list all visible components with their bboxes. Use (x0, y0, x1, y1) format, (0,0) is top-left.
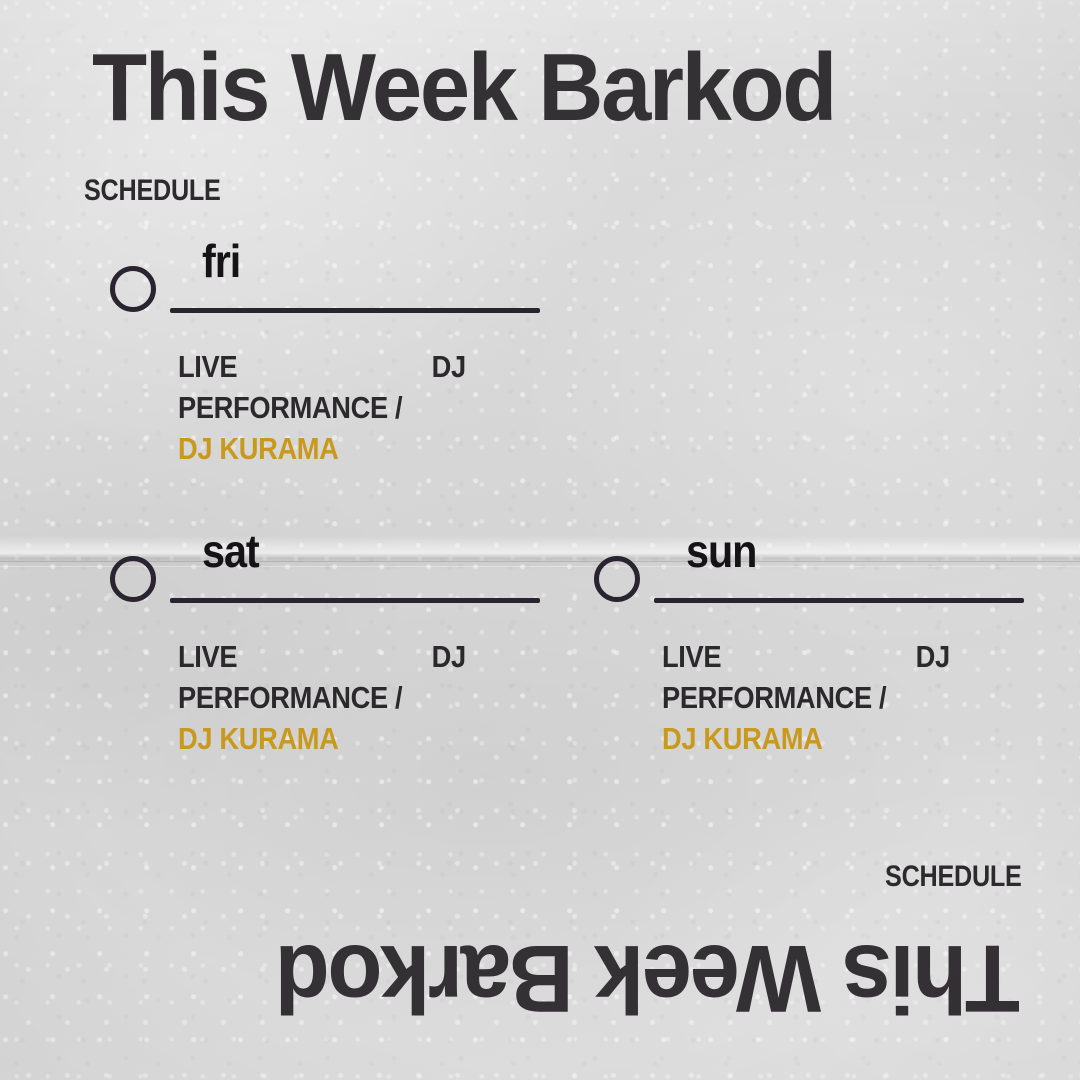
circle-marker-icon (594, 556, 640, 602)
artist-name-sat: DJ KURAMA (178, 718, 431, 759)
poster-content: This Week Barkod SCHEDULE fri LIVE DJ PE… (0, 0, 1080, 1080)
day-label-sun: sun (686, 528, 756, 574)
day-label-sat: sat (202, 528, 259, 574)
day-detail-line-1: LIVE DJ (178, 636, 466, 677)
schedule-kicker-top: SCHEDULE (84, 176, 221, 206)
artist-name-fri: DJ KURAMA (178, 428, 431, 469)
day-detail-line-1: LIVE DJ (178, 346, 466, 387)
day-divider-rule (654, 598, 1024, 603)
detail-performance-label: PERFORMANCE / (178, 677, 431, 718)
day-body-sat: LIVE DJ PERFORMANCE / DJ KURAMA (178, 636, 466, 759)
detail-performance-label: PERFORMANCE / (662, 677, 915, 718)
detail-dj-label: DJ (432, 346, 466, 387)
detail-dj-label: DJ (916, 636, 950, 677)
day-block-sun: sun LIVE DJ PERFORMANCE / DJ KURAMA (594, 528, 1024, 614)
circle-marker-icon (110, 266, 156, 312)
day-block-sat: sat LIVE DJ PERFORMANCE / DJ KURAMA (110, 528, 540, 614)
day-header-sun: sun (594, 528, 1024, 614)
detail-live-label: LIVE (178, 346, 237, 387)
detail-performance-label: PERFORMANCE / (178, 387, 431, 428)
day-divider-rule (170, 308, 540, 313)
poster-canvas: This Week Barkod SCHEDULE fri LIVE DJ PE… (0, 0, 1080, 1080)
day-body-sun: LIVE DJ PERFORMANCE / DJ KURAMA (662, 636, 950, 759)
detail-live-label: LIVE (178, 636, 237, 677)
day-divider-rule (170, 598, 540, 603)
circle-marker-icon (110, 556, 156, 602)
footer-title-text: This Week Barkod (277, 930, 1020, 1026)
detail-dj-label: DJ (432, 636, 466, 677)
day-header-fri: fri (110, 238, 540, 324)
day-header-sat: sat (110, 528, 540, 614)
detail-live-label: LIVE (662, 636, 721, 677)
artist-name-sun: DJ KURAMA (662, 718, 915, 759)
day-detail-line-1: LIVE DJ (662, 636, 950, 677)
day-label-fri: fri (202, 238, 240, 284)
day-block-fri: fri LIVE DJ PERFORMANCE / DJ KURAMA (110, 238, 540, 324)
footer-title-rotated: This Week Barkod (0, 918, 1080, 1028)
schedule-kicker-bottom: SCHEDULE (885, 862, 1022, 892)
page-title: This Week Barkod (92, 40, 835, 136)
day-body-fri: LIVE DJ PERFORMANCE / DJ KURAMA (178, 346, 466, 469)
